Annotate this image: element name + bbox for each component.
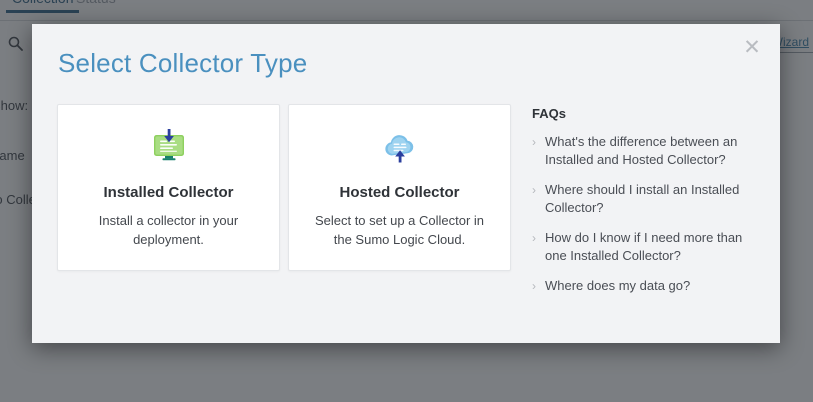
faq-heading: FAQs	[532, 106, 762, 121]
chevron-right-icon: ›	[532, 181, 545, 199]
close-icon[interactable]: ✕	[738, 34, 766, 62]
faq-item[interactable]: › Where does my data go?	[532, 277, 762, 295]
faq-item[interactable]: › What's the difference between an Insta…	[532, 133, 762, 169]
faq-item-label: Where does my data go?	[545, 277, 690, 295]
chevron-right-icon: ›	[532, 133, 545, 151]
card-installed-collector[interactable]: Installed Collector Install a collector …	[57, 104, 280, 271]
page-title: Select Collector Type	[58, 48, 307, 79]
faq-item-label: What's the difference between an Install…	[545, 133, 762, 169]
card-description: Select to set up a Collector in the Sumo…	[310, 211, 490, 249]
chevron-right-icon: ›	[532, 229, 545, 247]
faq-item-label: Where should I install an Installed Coll…	[545, 181, 762, 217]
faq-item[interactable]: › How do I know if I need more than one …	[532, 229, 762, 265]
collector-type-cards: Installed Collector Install a collector …	[57, 104, 511, 271]
card-description: Install a collector in your deployment.	[79, 211, 259, 249]
card-title: Hosted Collector	[339, 184, 459, 201]
card-title: Installed Collector	[103, 184, 233, 201]
card-hosted-collector[interactable]: Hosted Collector Select to set up a Coll…	[288, 104, 511, 271]
cloud-upload-icon	[379, 126, 421, 170]
chevron-right-icon: ›	[532, 277, 545, 295]
faq-item[interactable]: › Where should I install an Installed Co…	[532, 181, 762, 217]
monitor-download-icon	[148, 126, 190, 170]
faq-item-label: How do I know if I need more than one In…	[545, 229, 762, 265]
select-collector-type-dialog: ✕ Select Collector Type	[32, 24, 780, 343]
faq-panel: FAQs › What's the difference between an …	[532, 106, 762, 307]
